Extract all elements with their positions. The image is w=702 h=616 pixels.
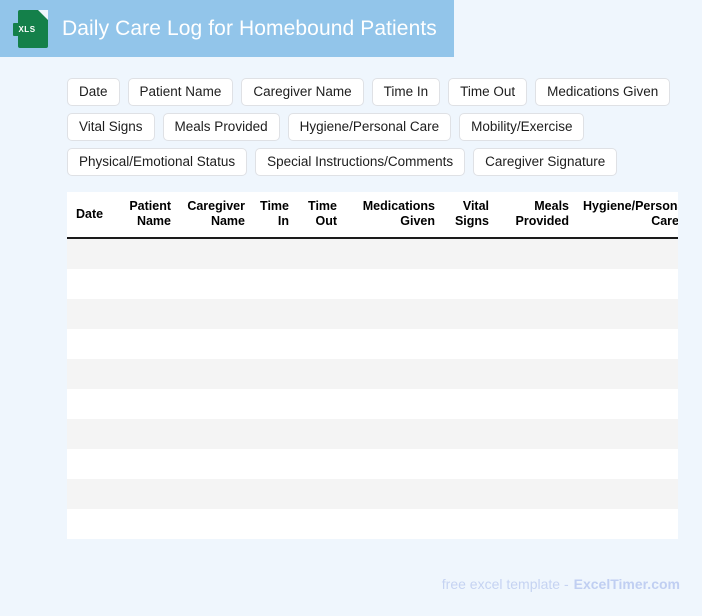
table-row[interactable] bbox=[67, 479, 678, 509]
table-cell[interactable] bbox=[497, 509, 577, 539]
table-cell[interactable] bbox=[297, 329, 345, 359]
table-cell[interactable] bbox=[297, 419, 345, 449]
table-cell[interactable] bbox=[179, 479, 253, 509]
table-cell[interactable] bbox=[497, 359, 577, 389]
table-cell[interactable] bbox=[253, 419, 297, 449]
table-cell[interactable] bbox=[497, 238, 577, 269]
table-cell[interactable] bbox=[117, 359, 179, 389]
table-cell[interactable] bbox=[497, 449, 577, 479]
table-cell[interactable] bbox=[67, 389, 117, 419]
table-cell[interactable] bbox=[297, 389, 345, 419]
table-header-medications-given: Medications Given bbox=[345, 192, 443, 238]
table-header-time-in: Time In bbox=[253, 192, 297, 238]
table-cell[interactable] bbox=[497, 389, 577, 419]
table-cell[interactable] bbox=[345, 479, 443, 509]
tag-caregiver-signature[interactable]: Caregiver Signature bbox=[473, 148, 617, 176]
table-cell[interactable] bbox=[345, 299, 443, 329]
footer-free-text: free excel template - bbox=[442, 576, 569, 592]
table-cell[interactable] bbox=[577, 419, 678, 449]
table-cell[interactable] bbox=[577, 479, 678, 509]
tag-date[interactable]: Date bbox=[67, 78, 120, 106]
table-cell[interactable] bbox=[345, 329, 443, 359]
table-cell[interactable] bbox=[67, 359, 117, 389]
table-cell[interactable] bbox=[443, 269, 497, 299]
table-cell[interactable] bbox=[345, 509, 443, 539]
table-cell[interactable] bbox=[67, 449, 117, 479]
tag-hygiene-personal-care[interactable]: Hygiene/Personal Care bbox=[288, 113, 452, 141]
table-cell[interactable] bbox=[443, 389, 497, 419]
table-row[interactable] bbox=[67, 269, 678, 299]
table-cell[interactable] bbox=[179, 359, 253, 389]
tag-row-1: Date Patient Name Caregiver Name Time In… bbox=[67, 78, 667, 106]
table-row[interactable] bbox=[67, 449, 678, 479]
table-cell[interactable] bbox=[253, 329, 297, 359]
table-row[interactable] bbox=[67, 329, 678, 359]
table-cell[interactable] bbox=[443, 449, 497, 479]
table-cell[interactable] bbox=[577, 509, 678, 539]
table-row[interactable] bbox=[67, 419, 678, 449]
table-cell[interactable] bbox=[497, 299, 577, 329]
footer-brand-link[interactable]: ExcelTimer.com bbox=[574, 576, 680, 592]
table-cell[interactable] bbox=[443, 359, 497, 389]
table-cell[interactable] bbox=[117, 509, 179, 539]
table-header-caregiver-name: Caregiver Name bbox=[179, 192, 253, 238]
xls-file-icon-label: XLS bbox=[13, 23, 41, 36]
care-log-table: Date Patient Name Caregiver Name Time In… bbox=[67, 192, 678, 539]
table-cell[interactable] bbox=[67, 269, 117, 299]
table-cell[interactable] bbox=[117, 238, 179, 269]
table-cell[interactable] bbox=[253, 359, 297, 389]
tag-time-in[interactable]: Time In bbox=[372, 78, 441, 106]
table-cell[interactable] bbox=[345, 449, 443, 479]
table-cell[interactable] bbox=[67, 479, 117, 509]
table-header-row: Date Patient Name Caregiver Name Time In… bbox=[67, 192, 678, 238]
care-log-table-container: Date Patient Name Caregiver Name Time In… bbox=[67, 192, 678, 540]
table-header-time-out: Time Out bbox=[297, 192, 345, 238]
table-cell[interactable] bbox=[117, 299, 179, 329]
tag-mobility-exercise[interactable]: Mobility/Exercise bbox=[459, 113, 584, 141]
table-header-meals-provided: Meals Provided bbox=[497, 192, 577, 238]
table-cell[interactable] bbox=[345, 238, 443, 269]
table-cell[interactable] bbox=[577, 449, 678, 479]
table-cell[interactable] bbox=[577, 238, 678, 269]
table-cell[interactable] bbox=[179, 449, 253, 479]
table-cell[interactable] bbox=[117, 329, 179, 359]
table-cell[interactable] bbox=[345, 269, 443, 299]
table-cell[interactable] bbox=[67, 419, 117, 449]
table-cell[interactable] bbox=[497, 329, 577, 359]
table-cell[interactable] bbox=[117, 449, 179, 479]
table-cell[interactable] bbox=[67, 299, 117, 329]
table-cell[interactable] bbox=[497, 419, 577, 449]
footer-attribution: free excel template -ExcelTimer.com bbox=[442, 576, 680, 592]
page-title: Daily Care Log for Homebound Patients bbox=[62, 17, 437, 41]
tag-list: Date Patient Name Caregiver Name Time In… bbox=[67, 78, 667, 183]
table-cell[interactable] bbox=[443, 419, 497, 449]
tag-physical-emotional-status[interactable]: Physical/Emotional Status bbox=[67, 148, 247, 176]
table-cell[interactable] bbox=[297, 479, 345, 509]
table-header-patient-name: Patient Name bbox=[117, 192, 179, 238]
table-cell[interactable] bbox=[179, 419, 253, 449]
table-cell[interactable] bbox=[253, 269, 297, 299]
table-cell[interactable] bbox=[253, 389, 297, 419]
xls-file-icon-fold bbox=[38, 10, 48, 20]
table-cell[interactable] bbox=[117, 389, 179, 419]
table-cell[interactable] bbox=[577, 329, 678, 359]
tag-medications-given[interactable]: Medications Given bbox=[535, 78, 670, 106]
table-header-date: Date bbox=[67, 192, 117, 238]
table-cell[interactable] bbox=[117, 479, 179, 509]
table-cell[interactable] bbox=[297, 449, 345, 479]
tag-meals-provided[interactable]: Meals Provided bbox=[163, 113, 280, 141]
table-cell[interactable] bbox=[577, 269, 678, 299]
tag-vital-signs[interactable]: Vital Signs bbox=[67, 113, 155, 141]
table-cell[interactable] bbox=[443, 509, 497, 539]
table-cell[interactable] bbox=[297, 238, 345, 269]
tag-special-instructions-comments[interactable]: Special Instructions/Comments bbox=[255, 148, 465, 176]
table-cell[interactable] bbox=[497, 269, 577, 299]
table-cell[interactable] bbox=[297, 299, 345, 329]
care-log-table-body bbox=[67, 238, 678, 539]
table-cell[interactable] bbox=[253, 479, 297, 509]
table-row[interactable] bbox=[67, 299, 678, 329]
table-cell[interactable] bbox=[443, 479, 497, 509]
table-cell[interactable] bbox=[253, 449, 297, 479]
table-cell[interactable] bbox=[497, 479, 577, 509]
table-cell[interactable] bbox=[179, 389, 253, 419]
table-cell[interactable] bbox=[297, 269, 345, 299]
table-cell[interactable] bbox=[577, 299, 678, 329]
table-cell[interactable] bbox=[253, 509, 297, 539]
tag-row-2: Vital Signs Meals Provided Hygiene/Perso… bbox=[67, 113, 667, 141]
table-header-hygiene-personal-care: Hygiene/Personal Care bbox=[577, 192, 678, 238]
table-cell[interactable] bbox=[117, 269, 179, 299]
table-cell[interactable] bbox=[443, 299, 497, 329]
table-row[interactable] bbox=[67, 238, 678, 269]
tag-patient-name[interactable]: Patient Name bbox=[128, 78, 234, 106]
table-header-vital-signs: Vital Signs bbox=[443, 192, 497, 238]
table-cell[interactable] bbox=[179, 269, 253, 299]
tag-caregiver-name[interactable]: Caregiver Name bbox=[241, 78, 363, 106]
table-cell[interactable] bbox=[67, 509, 117, 539]
table-cell[interactable] bbox=[345, 419, 443, 449]
table-cell[interactable] bbox=[253, 238, 297, 269]
document-title-bar: XLS Daily Care Log for Homebound Patient… bbox=[0, 0, 454, 57]
table-row[interactable] bbox=[67, 509, 678, 539]
table-cell[interactable] bbox=[345, 389, 443, 419]
table-cell[interactable] bbox=[443, 238, 497, 269]
table-cell[interactable] bbox=[345, 359, 443, 389]
table-cell[interactable] bbox=[577, 389, 678, 419]
table-cell[interactable] bbox=[443, 329, 497, 359]
table-cell[interactable] bbox=[577, 359, 678, 389]
table-cell[interactable] bbox=[297, 359, 345, 389]
table-row[interactable] bbox=[67, 359, 678, 389]
table-cell[interactable] bbox=[179, 509, 253, 539]
table-cell[interactable] bbox=[117, 419, 179, 449]
tag-time-out[interactable]: Time Out bbox=[448, 78, 527, 106]
tag-row-3: Physical/Emotional Status Special Instru… bbox=[67, 148, 667, 176]
table-cell[interactable] bbox=[179, 329, 253, 359]
table-row[interactable] bbox=[67, 389, 678, 419]
table-cell[interactable] bbox=[67, 329, 117, 359]
table-cell[interactable] bbox=[253, 299, 297, 329]
xls-file-icon: XLS bbox=[18, 10, 48, 48]
table-cell[interactable] bbox=[179, 238, 253, 269]
table-cell[interactable] bbox=[297, 509, 345, 539]
table-cell[interactable] bbox=[179, 299, 253, 329]
table-cell[interactable] bbox=[67, 238, 117, 269]
